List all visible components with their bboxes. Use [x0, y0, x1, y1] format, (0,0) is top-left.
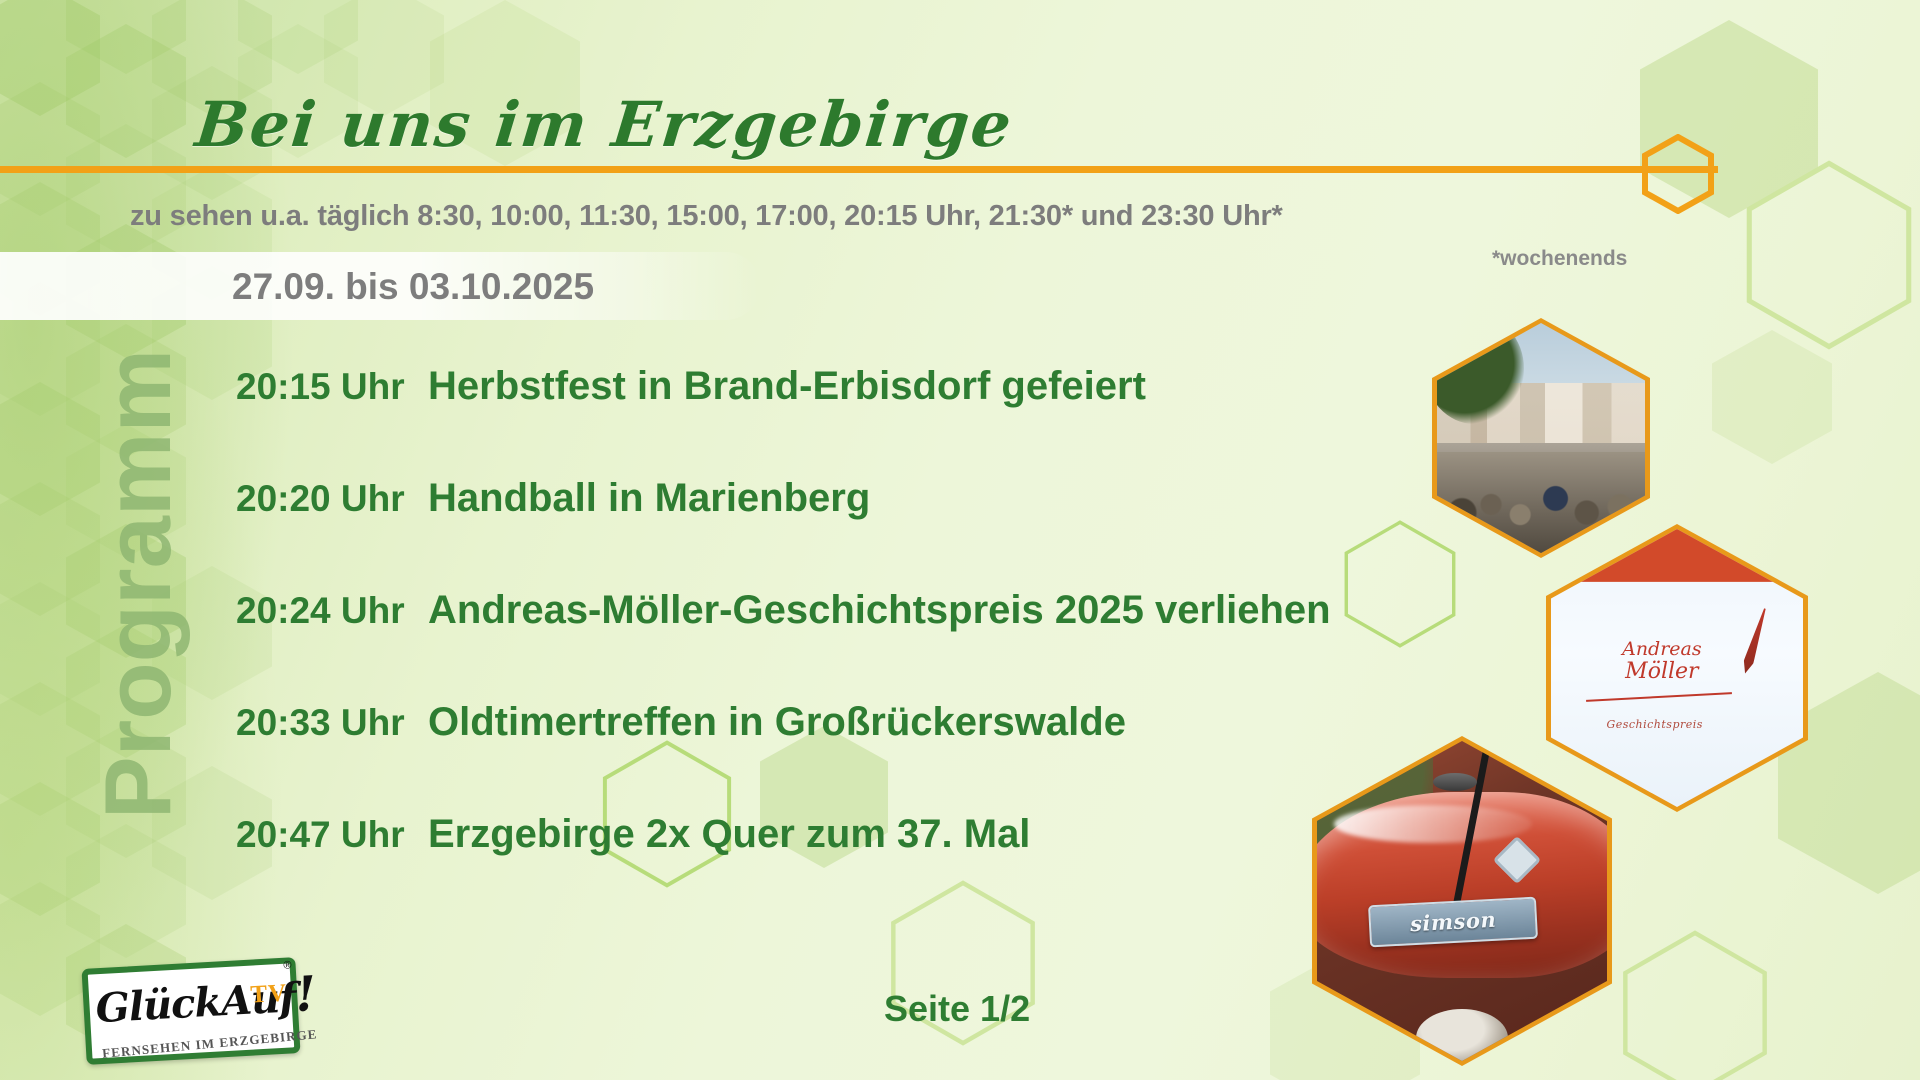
program-title: Oldtimertreffen in Großrückerswalde	[428, 700, 1126, 745]
bg-hexagon	[0, 782, 100, 916]
hexagon-photo-clip: simson	[1317, 741, 1607, 1061]
simson-photo: simson	[1312, 736, 1612, 1066]
program-slide: Bei uns im Erzgebirge zu sehen u.a. tägl…	[0, 0, 1920, 1080]
bg-hexagon	[66, 524, 186, 658]
hexagon-photo-clip	[1437, 323, 1645, 553]
bg-hexagon	[66, 0, 186, 74]
herbstfest-artwork	[1437, 323, 1645, 553]
andreas-moeller-signature: AndreasMöller	[1584, 640, 1740, 683]
logo-word-glueck: Glück	[94, 978, 222, 1032]
geschichtspreis-subtitle: Geschichtspreis	[1606, 718, 1703, 731]
registered-trademark-icon: ®	[283, 959, 292, 971]
page-title: Bei uns im Erzgebirge	[192, 88, 1016, 161]
bg-hexagon	[0, 0, 100, 116]
program-time: 20:47 Uhr	[236, 814, 428, 856]
date-range-badge: 27.09. bis 03.10.2025	[222, 262, 622, 312]
simson-badge: simson	[1368, 897, 1538, 947]
bg-hexagon	[66, 324, 186, 458]
bg-hexagon	[0, 382, 100, 516]
bg-hexagon	[238, 0, 358, 74]
simson-badge-text: simson	[1410, 907, 1497, 936]
headlamp-shape	[1416, 1009, 1508, 1061]
quill-pen-icon	[1740, 607, 1769, 675]
program-time: 20:20 Uhr	[236, 478, 428, 520]
tank-highlight	[1334, 805, 1531, 843]
bg-hexagon	[66, 24, 186, 158]
bg-hexagon	[0, 82, 100, 216]
bg-hexagon	[0, 582, 100, 716]
list-item[interactable]: 20:47 Uhr Erzgebirge 2x Quer zum 37. Mal	[236, 812, 1436, 924]
bg-hexagon	[66, 124, 186, 258]
bg-hexagon	[66, 424, 186, 558]
glueckauf-tv-logo[interactable]: GlückAuf! TV ® FERNSEHEN IM ERZGEBIRGE	[81, 957, 300, 1065]
header-rule	[0, 166, 1718, 173]
bg-hexagon	[1712, 330, 1832, 464]
list-item[interactable]: 20:24 Uhr Andreas-Möller-Geschichtspreis…	[236, 588, 1436, 700]
bg-hexagon	[66, 624, 186, 758]
program-time: 20:15 Uhr	[236, 366, 428, 408]
date-range-label: 27.09. bis 03.10.2025	[232, 266, 594, 308]
broadcast-times: zu sehen u.a. täglich 8:30, 10:00, 11:30…	[130, 200, 1283, 233]
page-number: Seite 1/2	[884, 988, 1030, 1030]
bg-hexagon-outline	[1744, 160, 1914, 350]
program-time: 20:24 Uhr	[236, 590, 428, 632]
program-title: Erzgebirge 2x Quer zum 37. Mal	[428, 812, 1030, 857]
program-title: Herbstfest in Brand-Erbisdorf gefeiert	[428, 364, 1146, 409]
simson-artwork: simson	[1317, 741, 1607, 1061]
bg-hexagon	[0, 682, 100, 816]
list-item[interactable]: 20:20 Uhr Handball in Marienberg	[236, 476, 1436, 588]
bg-hexagon-outline	[1620, 930, 1770, 1080]
program-list: 20:15 Uhr Herbstfest in Brand-Erbisdorf …	[236, 364, 1436, 924]
weekend-footnote: *wochenends	[1492, 247, 1627, 271]
bg-hexagon	[66, 824, 186, 958]
bg-hexagon	[0, 182, 100, 316]
program-time: 20:33 Uhr	[236, 702, 428, 744]
logo-tv-mark: TV	[250, 980, 288, 1010]
signature-underline	[1586, 692, 1732, 702]
bg-hexagon	[0, 482, 100, 616]
program-title: Handball in Marienberg	[428, 476, 870, 521]
herbstfest-photo	[1432, 318, 1650, 558]
list-item[interactable]: 20:33 Uhr Oldtimertreffen in Großrückers…	[236, 700, 1436, 812]
list-item[interactable]: 20:15 Uhr Herbstfest in Brand-Erbisdorf …	[236, 364, 1436, 476]
bg-hexagon	[66, 724, 186, 858]
fuel-cap-shape	[1433, 773, 1477, 791]
rule-end-hexagon-icon	[1642, 134, 1714, 214]
bg-hexagon	[66, 224, 186, 358]
bg-hexagon	[0, 282, 100, 416]
program-title: Andreas-Möller-Geschichtspreis 2025 verl…	[428, 588, 1331, 633]
programm-vertical-label: Programm	[84, 264, 192, 904]
logo-exclamation: !	[294, 966, 317, 1023]
